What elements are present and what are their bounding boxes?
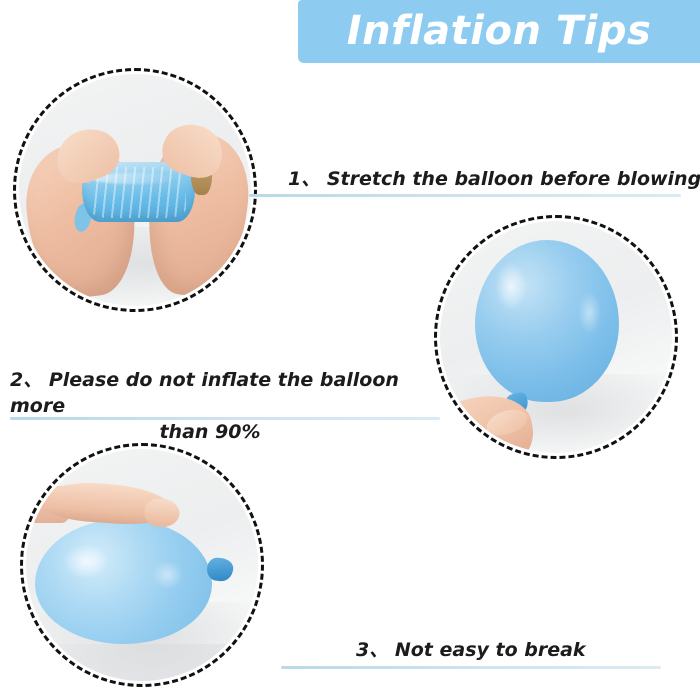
step-3-caption: 3、 Not easy to break — [356, 637, 586, 663]
title-banner: Inflation Tips — [298, 0, 700, 63]
step-2-photo — [440, 221, 672, 453]
step-1-caption: 1、 Stretch the balloon before blowing — [288, 166, 700, 192]
step-2-caption-line-2: than 90% — [10, 419, 410, 445]
step-2-caption-line-1: 2、 Please do not inflate the balloon mor… — [10, 367, 410, 419]
step-2-photo-circle — [434, 215, 678, 459]
infographic-canvas: Inflation Tips — [0, 0, 700, 700]
inflated-balloon-icon — [475, 240, 619, 402]
step-2-caption: 2、 Please do not inflate the balloon mor… — [10, 367, 410, 445]
step-3-photo-circle — [20, 443, 264, 687]
step-1-photo — [19, 74, 251, 306]
step-1-underline — [249, 194, 681, 197]
step-2-underline — [10, 417, 440, 420]
page-title: Inflation Tips — [298, 0, 700, 63]
squashed-balloon-icon — [35, 519, 211, 644]
step-3-photo — [26, 449, 258, 681]
step-1-photo-circle — [13, 68, 257, 312]
step-3-underline — [281, 666, 661, 669]
